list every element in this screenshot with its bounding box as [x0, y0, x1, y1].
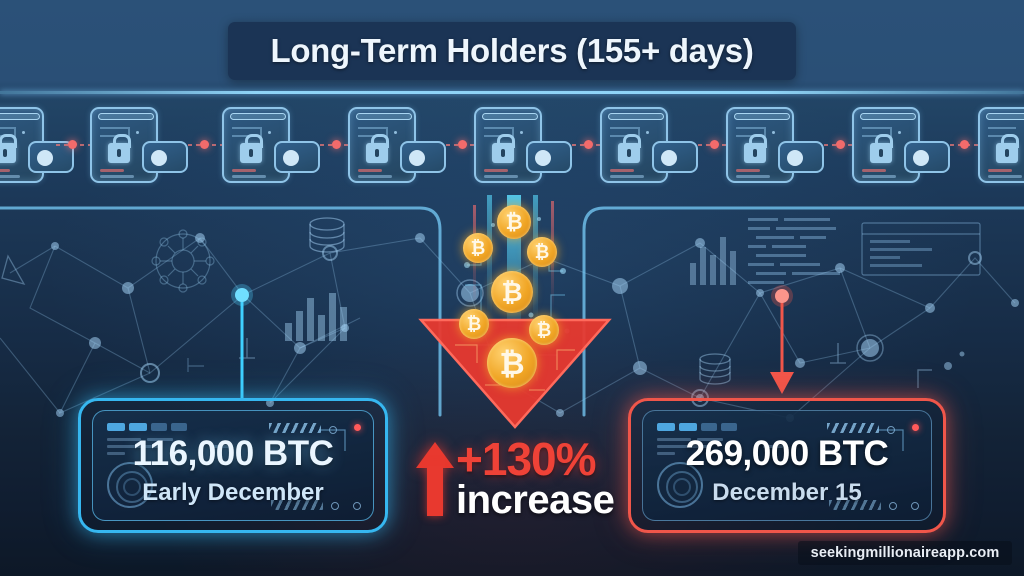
- bitcoin-coin-icon: ₿: [487, 338, 537, 388]
- left-metric-card[interactable]: 116,000 BTC Early December: [78, 398, 388, 533]
- left-connector: [231, 284, 253, 400]
- increase-stat: +130% increase: [404, 428, 620, 532]
- right-metric-card[interactable]: 269,000 BTC December 15: [628, 398, 946, 533]
- bitcoin-coin-icon: ₿: [497, 205, 531, 239]
- left-card-value: 116,000 BTC: [93, 434, 373, 474]
- bitcoin-coin-icon: ₿: [463, 233, 493, 263]
- right-connector: [770, 285, 794, 394]
- page-title: Long-Term Holders (155+ days): [228, 22, 796, 80]
- btc-flow-group: ₿ ₿ ₿ ₿ ₿ ₿ ₿: [415, 195, 615, 430]
- right-card-label: December 15: [643, 479, 931, 507]
- bitcoin-coin-icon: ₿: [491, 271, 533, 313]
- infographic-canvas: ₿ ₿ ₿ ₿ ₿ ₿ ₿ 1: [0, 0, 1024, 576]
- bitcoin-coin-icon: ₿: [527, 237, 557, 267]
- left-card-label: Early December: [93, 479, 373, 507]
- arrow-up-stem: [427, 466, 443, 516]
- page-title-text: Long-Term Holders (155+ days): [270, 32, 753, 70]
- bitcoin-coin-icon: ₿: [459, 309, 489, 339]
- arrow-up-icon: [416, 442, 454, 468]
- bitcoin-coin-icon: ₿: [529, 315, 559, 345]
- watermark: seekingmillionaireapp.com: [798, 541, 1012, 565]
- right-card-value: 269,000 BTC: [643, 434, 931, 474]
- increase-word: increase: [456, 478, 614, 523]
- watermark-text: seekingmillionaireapp.com: [811, 545, 1000, 561]
